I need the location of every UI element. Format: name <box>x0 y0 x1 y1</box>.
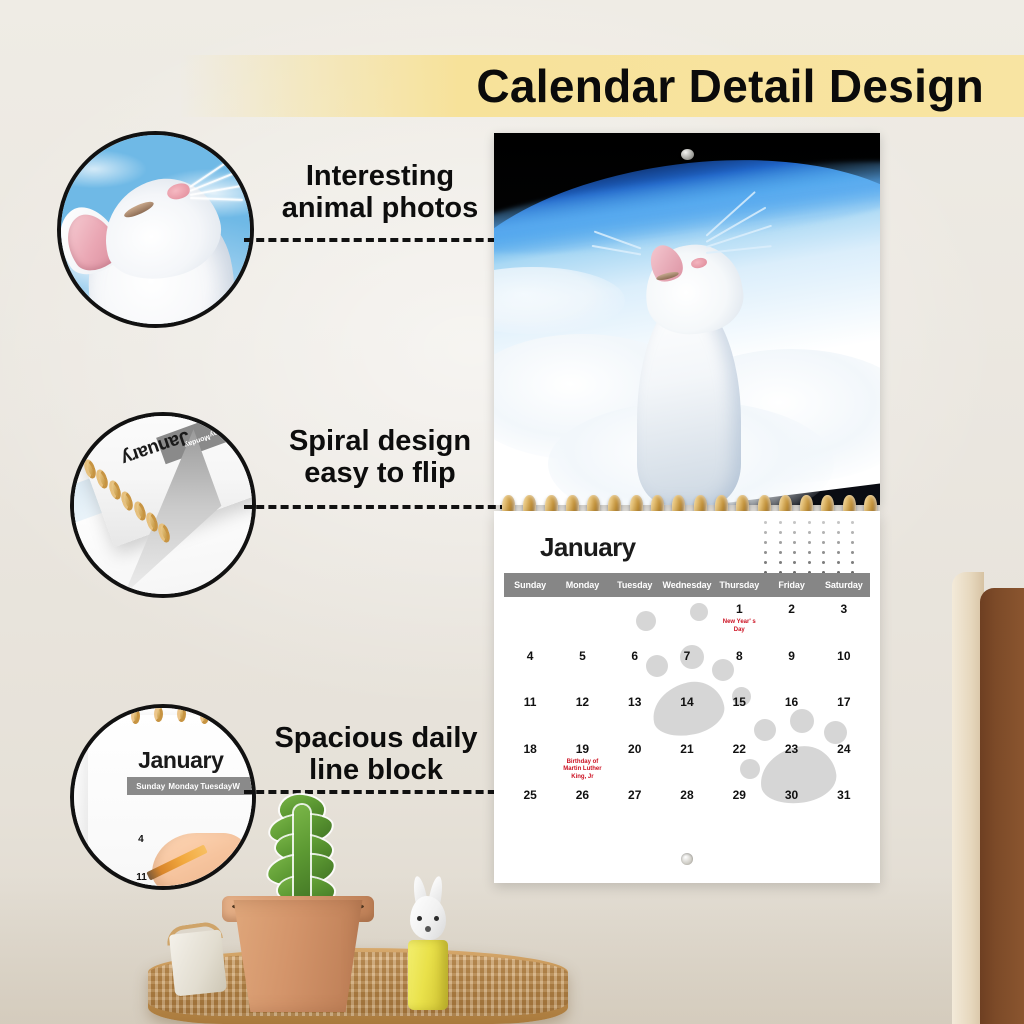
calendar-day-cell[interactable]: 26 <box>556 783 608 830</box>
calendar-day-cell[interactable]: 1New Year' s Day <box>713 597 765 644</box>
calendar-day-cell[interactable]: 20 <box>609 737 661 784</box>
calendar-day-cell[interactable]: 25 <box>504 783 556 830</box>
calendar-day-cell[interactable]: 19Birthday of Martin Luther King, Jr <box>556 737 608 784</box>
calendar-day-cell[interactable]: 29 <box>713 783 765 830</box>
calendar-day-cell[interactable]: 7 <box>661 644 713 691</box>
paw-print-watermark <box>690 603 708 621</box>
decorative-dot <box>764 551 767 554</box>
paw-print-watermark <box>636 611 656 631</box>
calendar-day-cell[interactable]: 17 <box>818 690 870 737</box>
day-number: 18 <box>504 742 556 756</box>
plant-stem <box>294 805 310 909</box>
day-number: 16 <box>765 695 817 709</box>
calendar-day-cell[interactable]: 27 <box>609 783 661 830</box>
day-number: 31 <box>818 788 870 802</box>
decorative-dot <box>837 521 840 524</box>
day-number: 17 <box>818 695 870 709</box>
inset-weekday: W <box>232 782 240 791</box>
decorative-dot <box>808 521 811 524</box>
calendar-day-cell[interactable]: 13 <box>609 690 661 737</box>
decorative-dot <box>764 531 767 534</box>
decorative-dot <box>822 541 825 544</box>
calendar-day-cell[interactable]: 11 <box>504 690 556 737</box>
decorative-dot <box>764 521 767 524</box>
bottom-punch-hole <box>681 853 693 865</box>
day-number: 13 <box>609 695 661 709</box>
decorative-dot <box>822 561 825 564</box>
decorative-dot <box>779 541 782 544</box>
day-number: 14 <box>661 695 713 709</box>
weekday-header-tuesday: Tuesday <box>609 573 661 597</box>
callout-label-animal-photos: Interesting animal photos <box>252 160 508 225</box>
day-number: 10 <box>818 649 870 663</box>
day-number: 9 <box>765 649 817 663</box>
decorative-dot <box>793 541 796 544</box>
decorative-dot <box>808 551 811 554</box>
spiral-flip-photo: January Sunday Monday <box>70 412 256 598</box>
decorative-dot <box>793 551 796 554</box>
decorative-dot <box>851 551 854 554</box>
decorative-dot <box>793 531 796 534</box>
calendar-day-cell[interactable]: 22 <box>713 737 765 784</box>
decorative-dot <box>793 561 796 564</box>
rabbit-mouth <box>425 926 431 932</box>
inset-day-number: 4 <box>138 834 144 845</box>
calendar-day-cell[interactable]: 8 <box>713 644 765 691</box>
day-number: 25 <box>504 788 556 802</box>
day-number: 3 <box>818 602 870 616</box>
decorative-dot <box>851 521 854 524</box>
rabbit-eye <box>434 916 439 921</box>
inset-month-title: January <box>138 747 223 774</box>
day-number: 30 <box>765 788 817 802</box>
day-number: 12 <box>556 695 608 709</box>
calendar-day-cell[interactable]: 6 <box>609 644 661 691</box>
wall-calendar[interactable]: January SundayMondayTuesdayWednesdayThur… <box>494 133 880 883</box>
callout-connector-line <box>244 505 508 509</box>
weekday-header-thursday: Thursday <box>713 573 765 597</box>
calendar-day-cell[interactable]: 30 <box>765 783 817 830</box>
calendar-day-cell[interactable]: 15 <box>713 690 765 737</box>
terracotta-pot <box>228 900 368 1012</box>
yellow-bottle <box>408 940 448 1010</box>
inset-weekday: Sunday <box>136 782 165 791</box>
cat-closeup-photo <box>57 131 254 328</box>
calendar-day-cell[interactable]: 31 <box>818 783 870 830</box>
day-number: 6 <box>609 649 661 663</box>
calendar-day-cell[interactable]: 14 <box>661 690 713 737</box>
day-number: 2 <box>765 602 817 616</box>
calendar-day-cell[interactable]: 4 <box>504 644 556 691</box>
calendar-day-cell[interactable]: 18 <box>504 737 556 784</box>
decorative-dot <box>837 541 840 544</box>
day-number: 22 <box>713 742 765 756</box>
day-number: 7 <box>661 649 713 663</box>
holiday-label: Birthday of Martin Luther King, Jr <box>556 759 608 782</box>
day-number: 19 <box>556 742 608 756</box>
day-number: 27 <box>609 788 661 802</box>
calendar-day-cell[interactable]: 23 <box>765 737 817 784</box>
decorative-dot <box>851 531 854 534</box>
calendar-day-cell[interactable]: 10 <box>818 644 870 691</box>
rabbit-eye <box>417 916 422 921</box>
day-number: 29 <box>713 788 765 802</box>
calendar-day-cell[interactable]: 2 <box>765 597 817 644</box>
day-number: 1 <box>713 602 765 616</box>
calendar-day-cell[interactable]: 24 <box>818 737 870 784</box>
decorative-dot <box>822 551 825 554</box>
decorative-dot <box>764 561 767 564</box>
day-number: 23 <box>765 742 817 756</box>
decorative-dot <box>808 541 811 544</box>
day-number: 24 <box>818 742 870 756</box>
calendar-day-cell[interactable]: 16 <box>765 690 817 737</box>
holiday-label: New Year' s Day <box>713 619 765 634</box>
inset-weekday: Monday <box>168 782 198 791</box>
decorative-dot <box>793 521 796 524</box>
weekday-header-bar: SundayMondayTuesdayWednesdayThursdayFrid… <box>504 573 870 597</box>
calendar-day-cell[interactable]: 28 <box>661 783 713 830</box>
decorative-dot <box>851 561 854 564</box>
day-number: 15 <box>713 695 765 709</box>
day-number: 26 <box>556 788 608 802</box>
month-title: January <box>540 532 636 563</box>
decorative-dot <box>837 551 840 554</box>
weekday-header-monday: Monday <box>556 573 608 597</box>
rabbit-head <box>410 896 446 940</box>
day-number: 5 <box>556 649 608 663</box>
callout-label-spiral-design: Spiral design easy to flip <box>252 425 508 490</box>
decorative-dot <box>837 561 840 564</box>
page-title: Calendar Detail Design <box>344 50 984 122</box>
decorative-dot <box>851 541 854 544</box>
callout-connector-line <box>244 790 508 794</box>
decorative-dot <box>837 531 840 534</box>
decorative-dot <box>808 531 811 534</box>
decorative-dot <box>779 531 782 534</box>
inset-weekday: Tuesday <box>200 782 232 791</box>
calendar-day-cell[interactable]: 12 <box>556 690 608 737</box>
day-number: 8 <box>713 649 765 663</box>
rabbit-figurine <box>404 880 452 946</box>
decorative-dot <box>764 541 767 544</box>
weekday-header-saturday: Saturday <box>818 573 870 597</box>
callout-label-daily-block: Spacious daily line block <box>248 722 504 787</box>
inset-day-number: 11 <box>136 872 147 883</box>
weekday-header-sunday: Sunday <box>504 573 556 597</box>
callout-connector-line <box>244 238 508 242</box>
calendar-day-cell[interactable]: 9 <box>765 644 817 691</box>
headboard-dark-panel <box>980 588 1024 1024</box>
spiral-coil <box>224 712 233 728</box>
calendar-month-page: January SundayMondayTuesdayWednesdayThur… <box>494 511 880 883</box>
day-grid: 1New Year' s Day234567891011121314151617… <box>504 597 870 877</box>
writing-hand-photo: January Sunday Monday Tuesday W 4 11 <box>70 704 256 890</box>
decorative-dot <box>779 521 782 524</box>
decorative-dot <box>822 521 825 524</box>
day-number: 4 <box>504 649 556 663</box>
calendar-day-cell[interactable]: 3 <box>818 597 870 644</box>
small-container <box>169 929 227 996</box>
hanging-nail <box>681 149 694 160</box>
decorative-dot <box>779 561 782 564</box>
decorative-dot <box>808 561 811 564</box>
decorative-dot <box>822 531 825 534</box>
day-number: 21 <box>661 742 713 756</box>
weekday-header-friday: Friday <box>765 573 817 597</box>
day-number: 28 <box>661 788 713 802</box>
day-number: 11 <box>504 695 556 709</box>
decorative-dot <box>779 551 782 554</box>
calendar-day-cell[interactable]: 5 <box>556 644 608 691</box>
dot-pattern-decoration <box>764 521 864 579</box>
cloud-shape <box>57 150 146 188</box>
calendar-photo-panel <box>494 133 880 505</box>
spiral-coil <box>131 708 140 724</box>
day-number: 20 <box>609 742 661 756</box>
calendar-day-cell[interactable]: 21 <box>661 737 713 784</box>
weekday-header-wednesday: Wednesday <box>661 573 713 597</box>
